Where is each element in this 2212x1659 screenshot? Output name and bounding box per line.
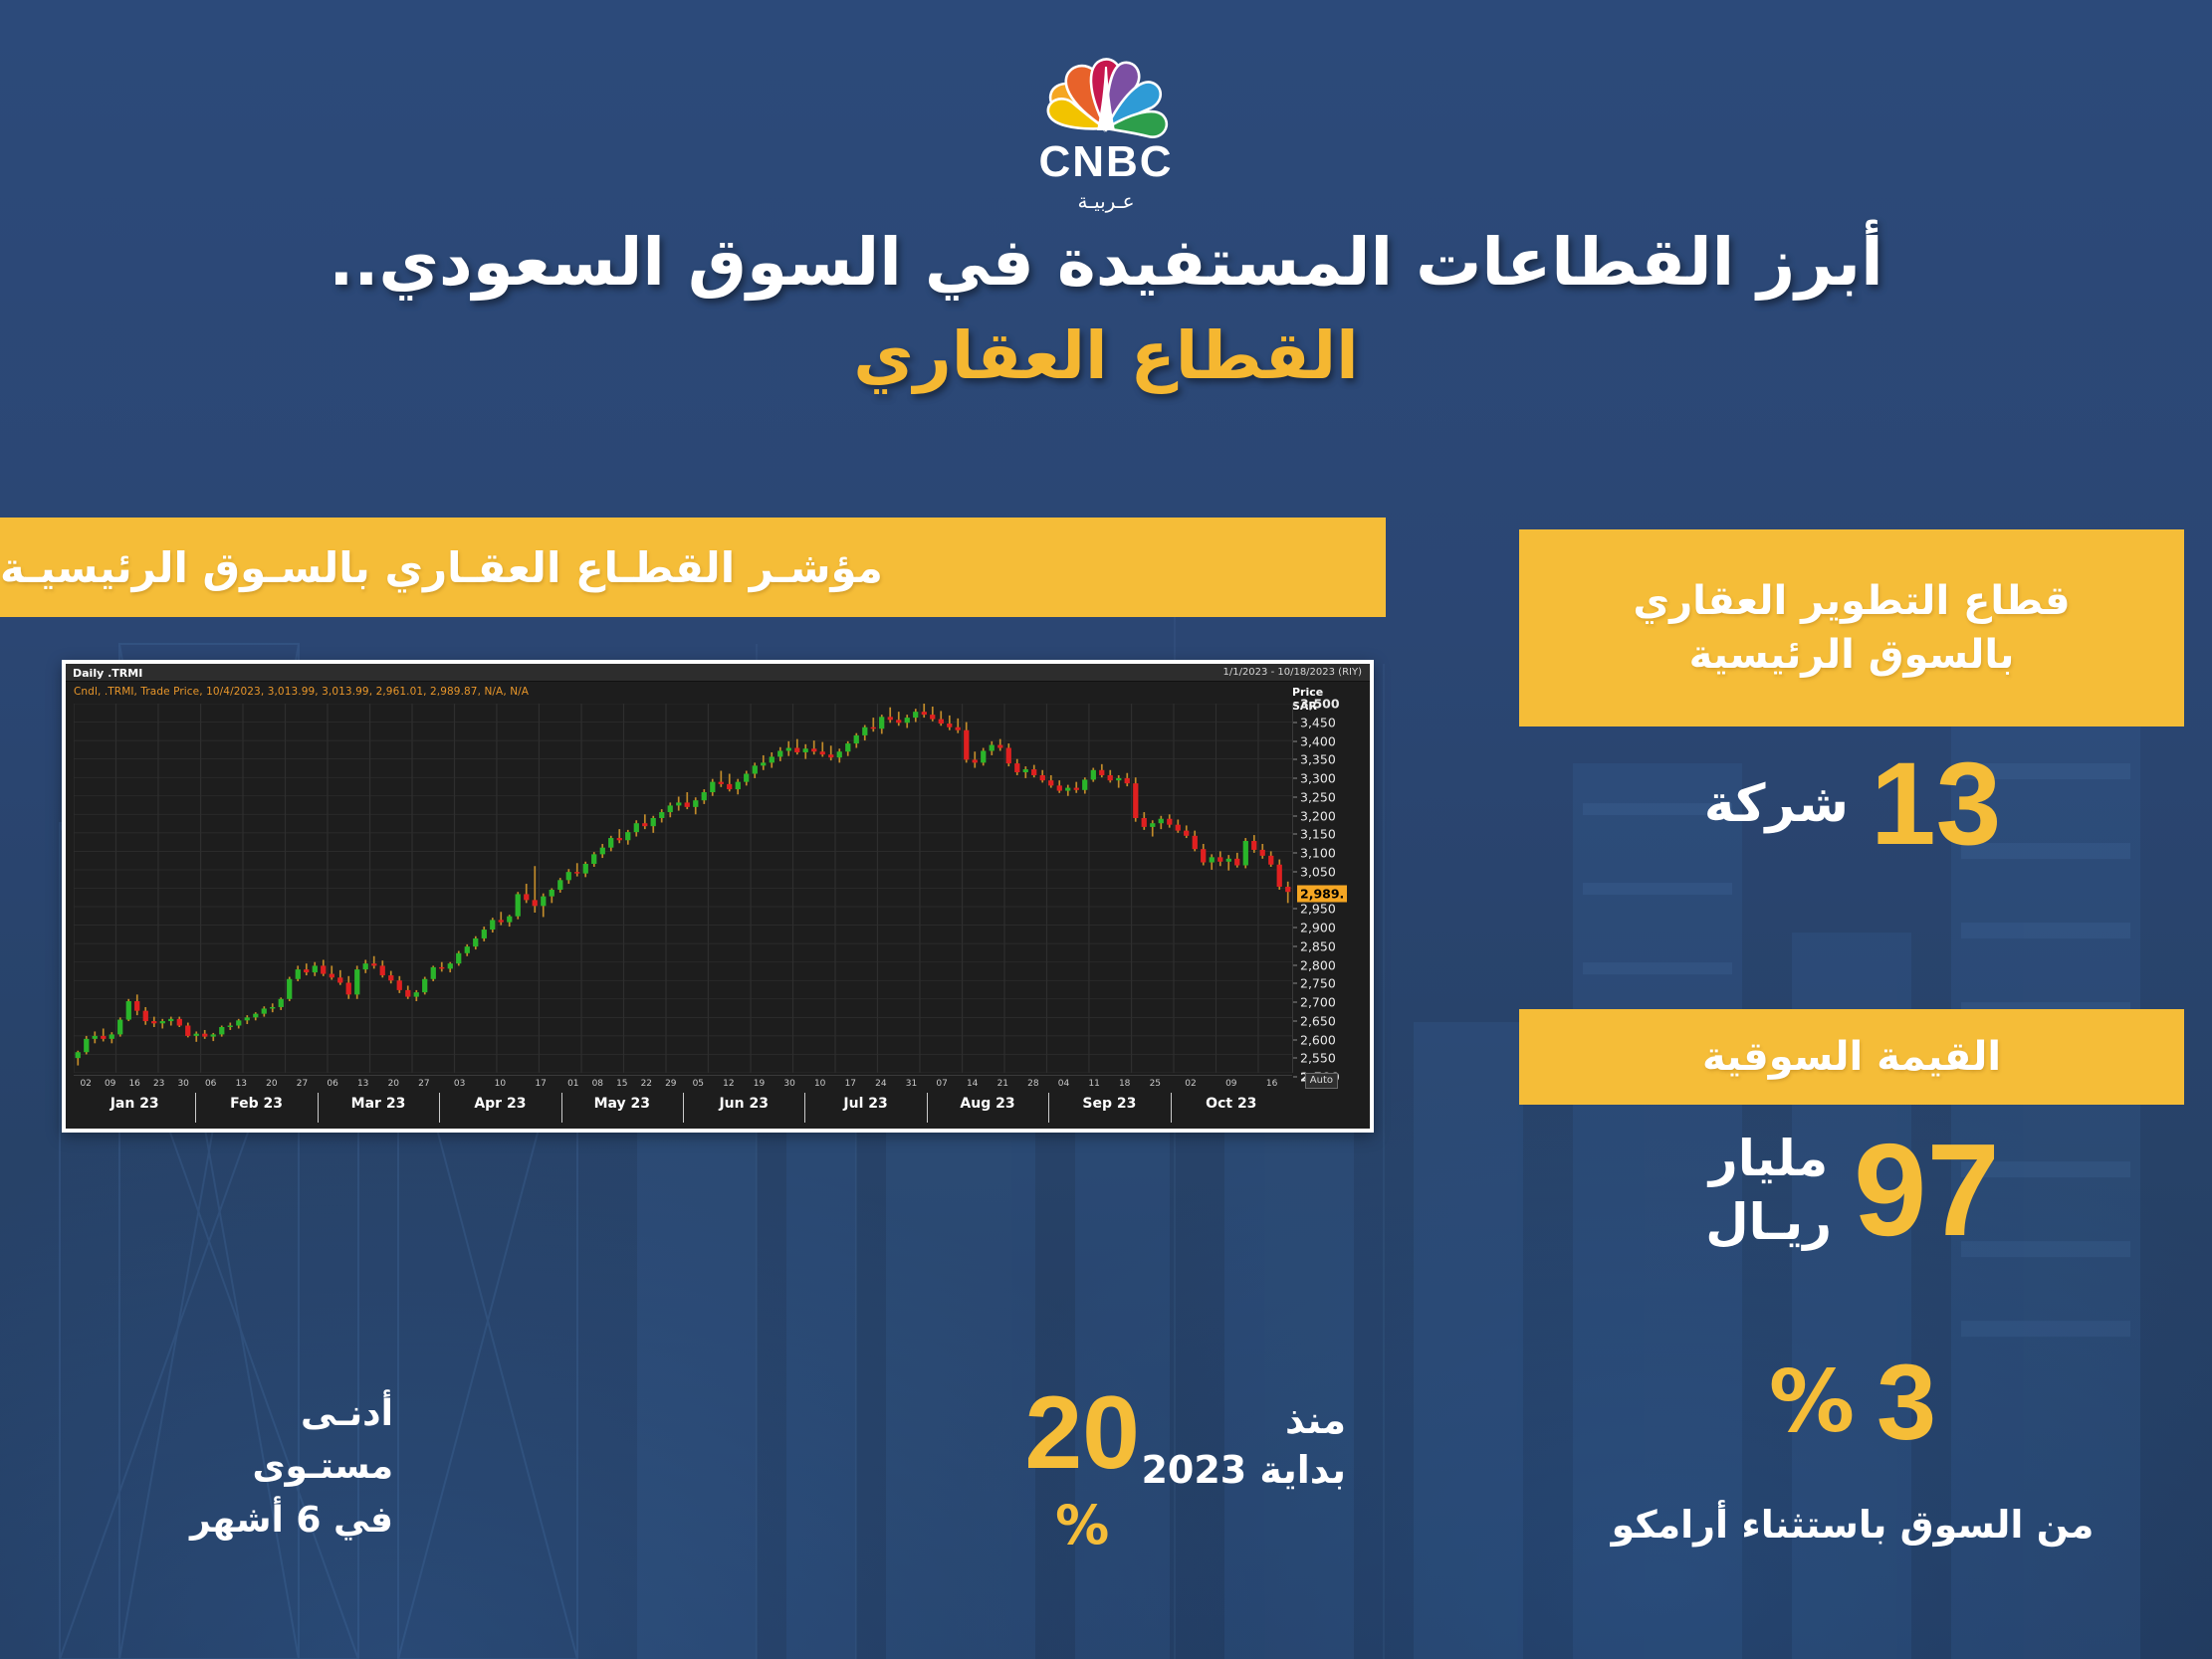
y-axis-tick: 2,600 <box>1300 1032 1336 1047</box>
y-axis-tick: 2,950 <box>1300 902 1336 917</box>
y-axis-current-price-label: 2,989. <box>1297 886 1347 903</box>
market-cap-title: القيمة السوقية <box>1702 1030 2001 1084</box>
x-axis-month-label: Feb 23 <box>230 1096 283 1112</box>
y-axis-tick: 3,400 <box>1300 733 1336 748</box>
y-axis-tick: 2,550 <box>1300 1051 1336 1066</box>
candlestick-plot <box>74 704 1292 1073</box>
x-axis-day-tick: 14 <box>967 1079 978 1089</box>
chart-banner-label: مؤشـر القطـاع العقـاري بالسـوق الرئيسيـة <box>0 543 883 592</box>
y-axis-tick: 2,700 <box>1300 995 1336 1010</box>
x-axis-day-tick: 31 <box>906 1079 917 1089</box>
companies-stat: 13 شركة <box>1493 748 2212 860</box>
x-axis-day-tick: 13 <box>236 1079 247 1089</box>
x-axis-month-label: May 23 <box>594 1096 650 1112</box>
y-axis-tick: 2,900 <box>1300 921 1336 935</box>
market-share-note: من السوق باستثناء أرامكو <box>1493 1503 2212 1547</box>
cnbc-arabia-logo: CNBC عـربيـة <box>992 34 1220 213</box>
sector-title-box: قطاع التطوير العقاري بالسوق الرئيسية <box>1519 529 2184 726</box>
ytd-gain-stat: 20 % <box>1024 1381 1140 1553</box>
chart-inner: Daily .TRMI 1/1/2023 - 10/18/2023 (RIY) … <box>66 664 1370 1129</box>
page-subtitle: القطاع العقاري <box>0 317 2212 395</box>
right-column: قطاع التطوير العقاري بالسوق الرئيسية 13 … <box>1493 518 2212 1659</box>
x-axis-day-tick: 13 <box>357 1079 368 1089</box>
low-note-line3: في 6 أشهر <box>95 1494 393 1547</box>
title-block: أبرز القطاعات المستفيدة في السوق السعودي… <box>0 224 2212 395</box>
x-axis-day-tick: 16 <box>1266 1079 1277 1089</box>
page-title: أبرز القطاعات المستفيدة في السوق السعودي… <box>0 224 2212 302</box>
companies-unit: شركة <box>1704 771 1849 838</box>
x-axis-day-tick: 21 <box>997 1079 1008 1089</box>
market-cap-unit-line2: ريـال <box>1705 1190 1832 1254</box>
low-note-line1: أدنـى <box>95 1387 393 1440</box>
since-label: منذ بداية 2023 <box>1141 1395 1346 1495</box>
market-cap-value: 97 <box>1854 1128 2000 1252</box>
companies-count: 13 <box>1871 748 2001 860</box>
x-axis-month-label: Mar 23 <box>351 1096 406 1112</box>
x-axis-day-tick: 11 <box>1088 1079 1099 1089</box>
six-month-low-note: أدنـى مستـوى في 6 أشهر <box>95 1387 393 1547</box>
x-axis-month-label: Oct 23 <box>1206 1096 1256 1112</box>
x-axis-day-tick: 19 <box>754 1079 765 1089</box>
low-note-line2: مستـوى <box>95 1440 393 1493</box>
nbc-peacock-icon <box>1031 34 1181 138</box>
x-axis-day-tick: 15 <box>616 1079 627 1089</box>
x-axis: Jan 230209162330Feb 2306132027Mar 230613… <box>74 1075 1292 1123</box>
market-share-stat: 3 % <box>1493 1351 2212 1454</box>
sector-title-line2: بالسوق الرئيسية <box>1689 632 2015 678</box>
x-axis-month-label: Jan 23 <box>111 1096 159 1112</box>
logo-wordmark: CNBC <box>992 140 1220 184</box>
y-axis-tick: 3,500 <box>1300 697 1340 712</box>
x-axis-day-tick: 06 <box>205 1079 216 1089</box>
x-axis-day-tick: 12 <box>723 1079 734 1089</box>
x-axis-day-tick: 17 <box>845 1079 856 1089</box>
x-axis-day-tick: 22 <box>641 1079 652 1089</box>
ytd-gain-percent-symbol: % <box>1024 1499 1140 1553</box>
market-cap-unit-line1: مليار <box>1705 1127 1832 1190</box>
chart-date-range: 1/1/2023 - 10/18/2023 (RIY) <box>1222 667 1362 678</box>
chart-titlebar: Daily .TRMI 1/1/2023 - 10/18/2023 (RIY) <box>66 664 1370 682</box>
market-cap-stat: 97 مليار ريـال <box>1493 1127 2212 1254</box>
since-label-line1: منذ <box>1141 1395 1346 1445</box>
x-axis-day-tick: 25 <box>1150 1079 1161 1089</box>
x-axis-day-tick: 17 <box>535 1079 546 1089</box>
y-axis-tick: 3,150 <box>1300 827 1336 842</box>
y-axis-tick: 2,800 <box>1300 957 1336 972</box>
y-axis-tick: 3,200 <box>1300 808 1336 823</box>
market-share-value: 3 <box>1877 1351 1936 1454</box>
chart-legend: Cndl, .TRMI, Trade Price, 10/4/2023, 3,0… <box>74 686 529 698</box>
bottom-left-stats: منذ بداية 2023 20 % أدنـى مستـوى في 6 أش… <box>0 1391 1394 1650</box>
y-axis-tick: 3,250 <box>1300 789 1336 804</box>
x-axis-month-label: Apr 23 <box>474 1096 526 1112</box>
market-cap-unit: مليار ريـال <box>1705 1127 1832 1254</box>
x-axis-day-tick: 02 <box>1185 1079 1196 1089</box>
logo-subtitle: عـربيـة <box>992 189 1220 213</box>
x-axis-day-tick: 30 <box>177 1079 188 1089</box>
market-cap-title-box: القيمة السوقية <box>1519 1009 2184 1105</box>
market-share-percent-symbol: % <box>1769 1352 1855 1452</box>
x-axis-day-tick: 08 <box>592 1079 603 1089</box>
x-axis-day-tick: 06 <box>327 1079 337 1089</box>
x-axis-month-label: Jul 23 <box>843 1096 887 1112</box>
y-axis-tick: 3,050 <box>1300 864 1336 879</box>
x-axis-month-label: Aug 23 <box>960 1096 1014 1112</box>
x-axis-day-tick: 18 <box>1119 1079 1130 1089</box>
x-axis-day-tick: 10 <box>495 1079 506 1089</box>
x-axis-day-tick: 09 <box>1225 1079 1236 1089</box>
x-axis-day-tick: 05 <box>693 1079 704 1089</box>
y-axis-tick: 3,450 <box>1300 715 1336 729</box>
auto-scale-button[interactable]: Auto <box>1305 1073 1338 1089</box>
x-axis-day-tick: 24 <box>875 1079 886 1089</box>
chart-title: Daily .TRMI <box>73 667 142 680</box>
y-axis-tick: 3,300 <box>1300 771 1336 786</box>
x-axis-day-tick: 02 <box>80 1079 91 1089</box>
chart-banner: مؤشـر القطـاع العقـاري بالسـوق الرئيسيـة <box>0 518 1386 617</box>
sector-title-line1: قطاع التطوير العقاري <box>1633 578 2070 624</box>
x-axis-month-label: Sep 23 <box>1082 1096 1136 1112</box>
left-column: مؤشـر القطـاع العقـاري بالسـوق الرئيسيـة… <box>0 518 1394 617</box>
x-axis-month-label: Jun 23 <box>719 1096 769 1112</box>
x-axis-day-tick: 01 <box>567 1079 578 1089</box>
y-axis-tick: 3,100 <box>1300 846 1336 861</box>
x-axis-day-tick: 27 <box>418 1079 429 1089</box>
x-axis-day-tick: 28 <box>1027 1079 1038 1089</box>
chart-panel: Daily .TRMI 1/1/2023 - 10/18/2023 (RIY) … <box>62 660 1374 1133</box>
since-label-line2: بداية 2023 <box>1141 1445 1346 1495</box>
y-axis-tick: 2,650 <box>1300 1013 1336 1028</box>
y-axis-tick: 3,350 <box>1300 752 1336 767</box>
y-axis-tick: 2,750 <box>1300 976 1336 991</box>
x-axis-day-tick: 16 <box>128 1079 139 1089</box>
x-axis-day-tick: 20 <box>266 1079 277 1089</box>
x-axis-day-tick: 27 <box>297 1079 308 1089</box>
x-axis-day-tick: 30 <box>783 1079 794 1089</box>
y-axis: 3,5003,4503,4003,3503,3003,2503,2003,150… <box>1292 704 1370 1073</box>
x-axis-day-tick: 20 <box>388 1079 399 1089</box>
x-axis-day-tick: 23 <box>153 1079 164 1089</box>
ytd-gain-value: 20 <box>1024 1381 1140 1485</box>
x-axis-day-tick: 07 <box>936 1079 947 1089</box>
x-axis-day-tick: 03 <box>454 1079 465 1089</box>
y-axis-tick: 2,850 <box>1300 938 1336 953</box>
x-axis-day-tick: 10 <box>814 1079 825 1089</box>
x-axis-day-tick: 04 <box>1058 1079 1069 1089</box>
x-axis-day-tick: 09 <box>105 1079 115 1089</box>
x-axis-day-tick: 29 <box>665 1079 676 1089</box>
